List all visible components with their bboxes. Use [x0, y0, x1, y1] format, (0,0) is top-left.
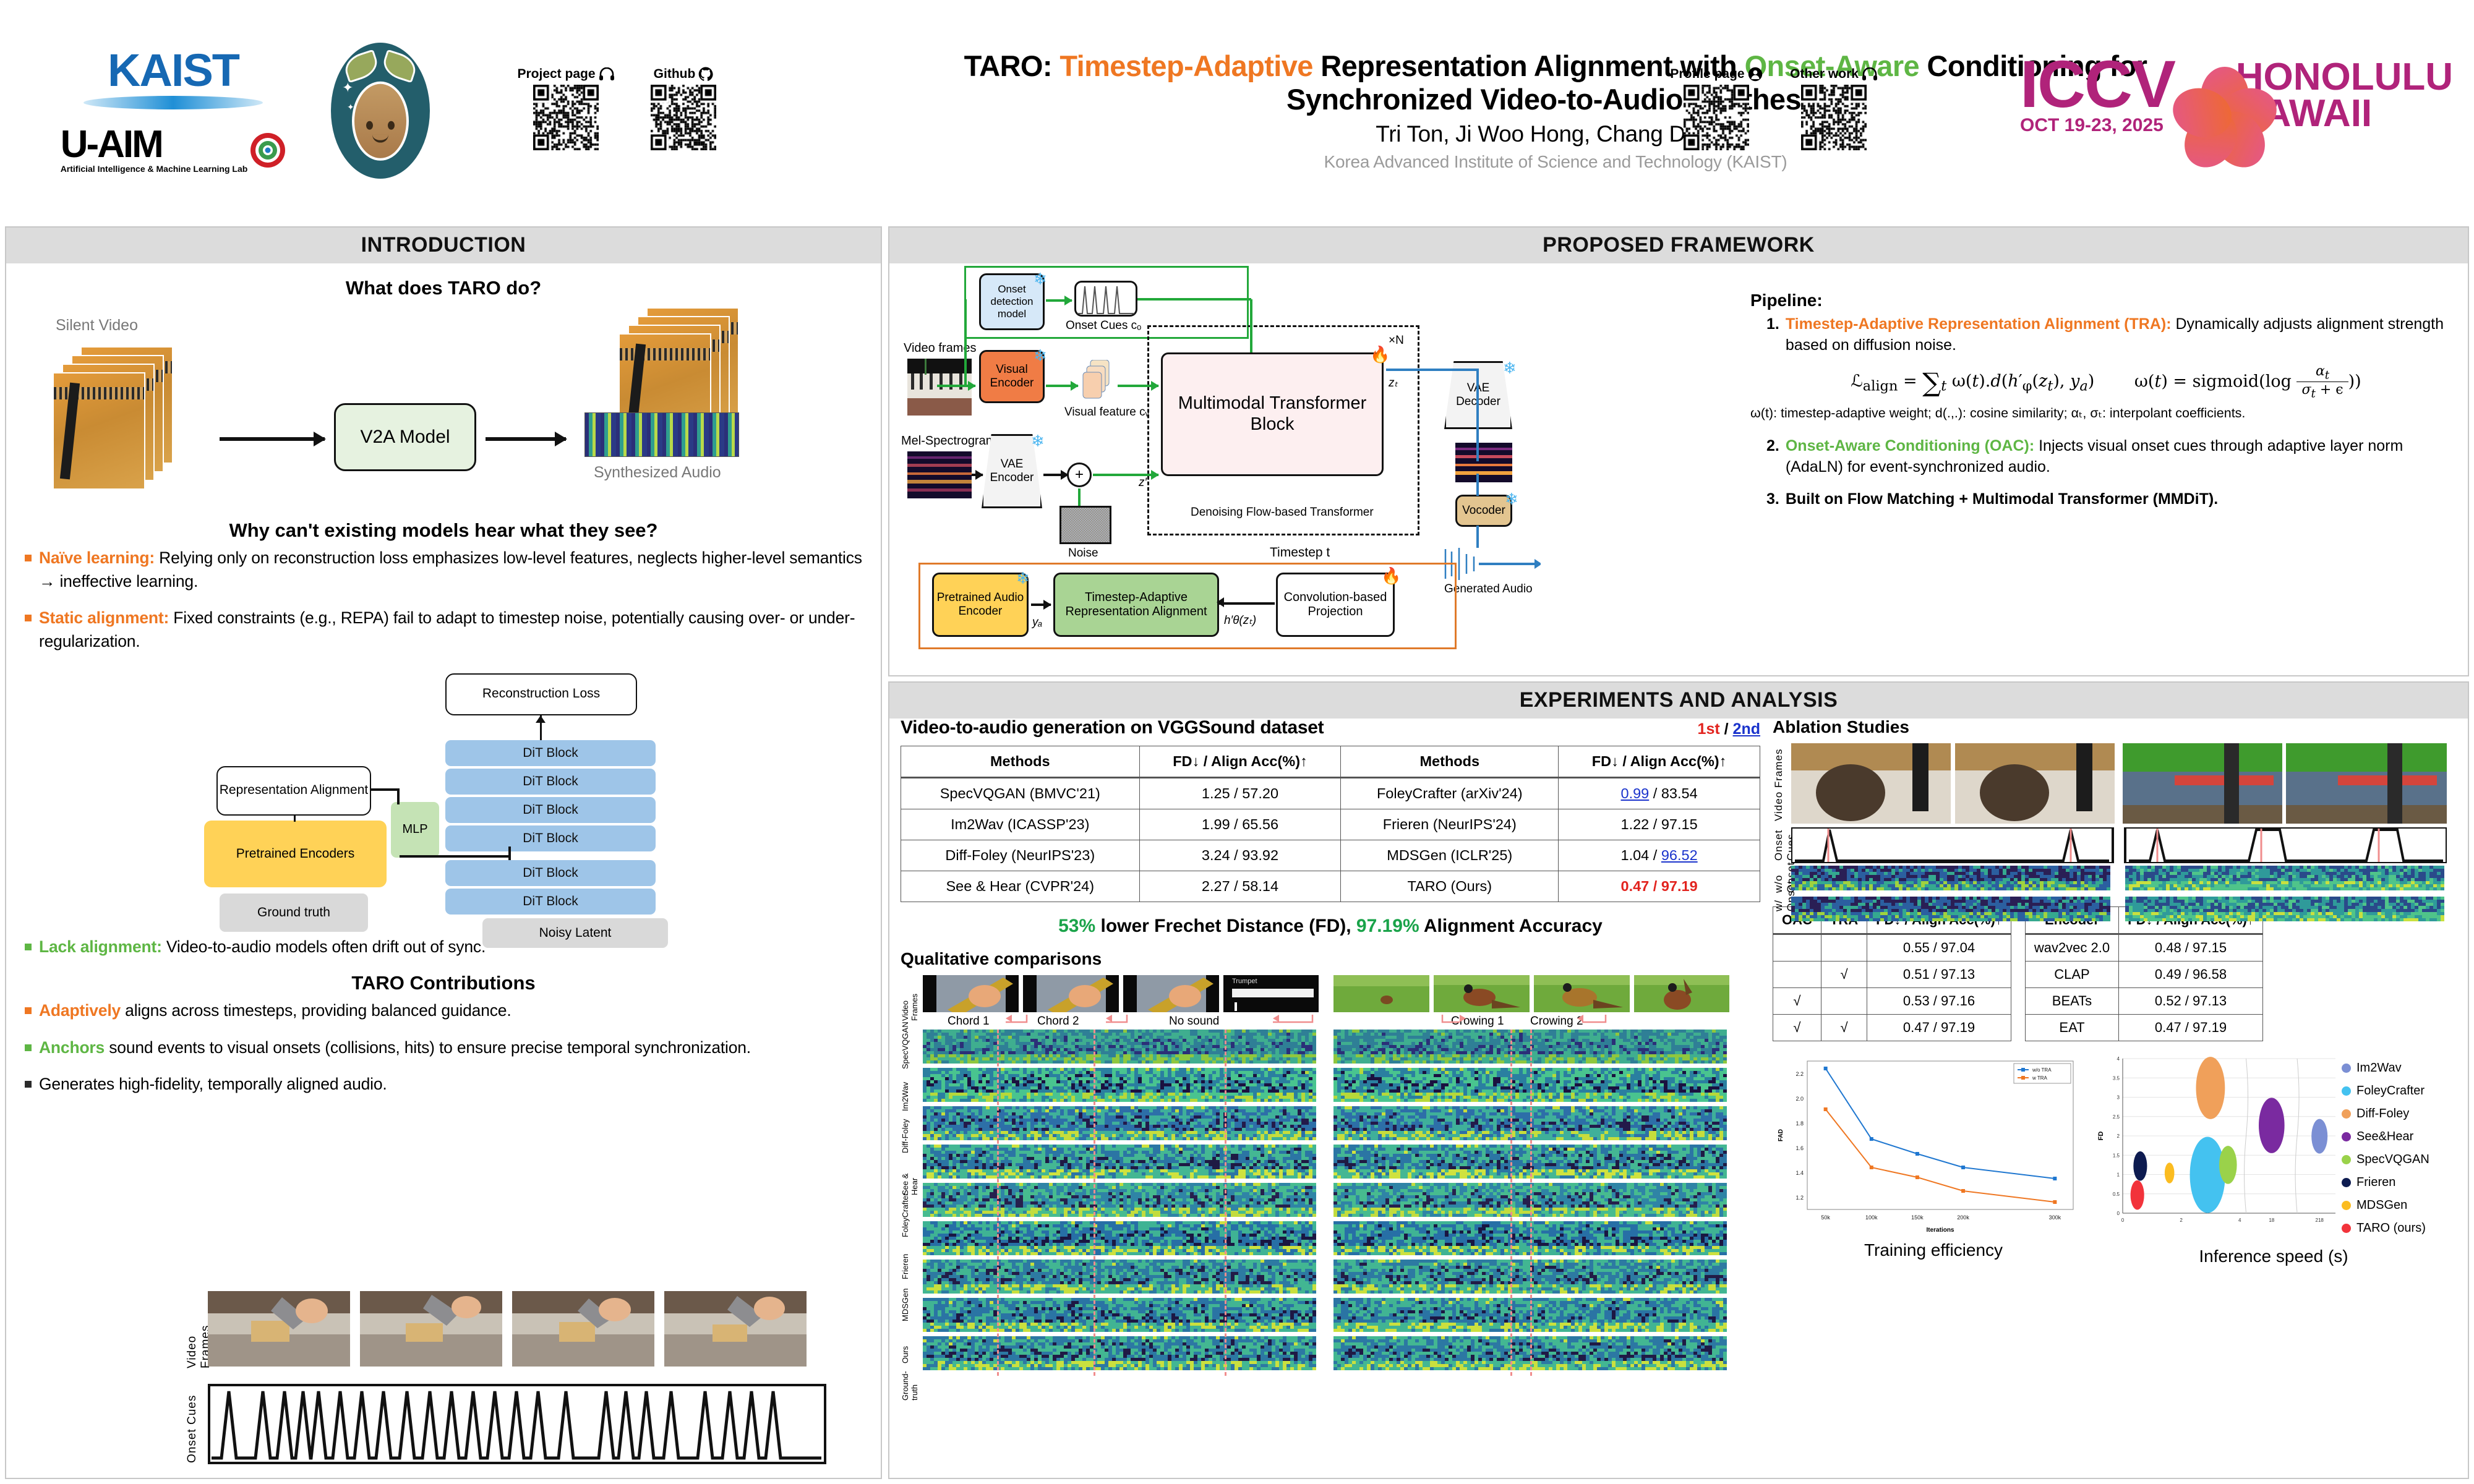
conv-projection-box: Convolution-based Projection [1276, 573, 1395, 637]
qr-code-image[interactable] [1801, 85, 1867, 150]
qualitative-row-label: Diff-Foley [901, 1115, 910, 1153]
onset-cues-plot-box [1074, 281, 1137, 317]
legend-item: MDSGen [2342, 1198, 2429, 1213]
spectrogram-row [923, 1336, 1319, 1372]
fire-icon: 🔥 [1370, 345, 1390, 364]
main-table-title: Video-to-audio generation on VGGSound da… [901, 717, 1324, 738]
table-row: √0.53 / 97.16 [1773, 988, 2011, 1015]
table-header-row: Methods FD↓ / Align Acc(%)↑ Methods FD↓ … [901, 746, 1760, 778]
onset-marker-line [1510, 1030, 1512, 1376]
contribution-adaptively: Adaptively aligns across timesteps, prov… [25, 999, 866, 1023]
qualitative-row-label: Ours [901, 1325, 910, 1363]
col-metrics-2: FD↓ / Align Acc(%)↑ [1559, 746, 1760, 778]
arrow-audio-encoder-to-tra [1031, 603, 1051, 606]
wo-onset-spectrograms [1791, 866, 2447, 896]
legend-label: FoleyCrafter [2356, 1084, 2425, 1098]
snowflake-icon: ❄ [1016, 569, 1030, 588]
legend-color-dot [2342, 1224, 2351, 1233]
table-row: wav2vec 2.00.48 / 97.15 [2025, 934, 2262, 962]
onset-cues-plot [208, 1384, 826, 1464]
qualitative-column-trumpet: Trumpet Chord 1 Chord 2 No sound [923, 975, 1319, 1030]
arrow-mel-to-vae [972, 474, 983, 476]
contribution-generates: Generates high-fidelity, temporally alig… [25, 1073, 866, 1096]
github-icon [698, 67, 713, 82]
ablation-row-label: Video Frames [1773, 743, 1785, 821]
ablation-title: Ablation Studies [1773, 717, 2459, 737]
ablation-figure: Video FramesOnset Cuesw/o Onsetw/ Onset [1773, 743, 2459, 898]
pretrained-encoders-box: Pretrained Encoders [204, 821, 387, 887]
arrow-add-to-mmt [1093, 474, 1158, 476]
video-frames-thumb [907, 359, 972, 416]
video-frame-thumb [664, 1291, 807, 1367]
qualitative-row-label: Frieren [901, 1241, 910, 1279]
headphones-icon [1862, 67, 1878, 81]
legend-label: SpecVQGAN [2356, 1153, 2429, 1167]
z-prime-label: z′ [1139, 476, 1147, 490]
qr-github[interactable]: Github [637, 67, 730, 150]
trumpet-video-frames: Trumpet [923, 975, 1319, 1013]
pipeline-item-tra: 1. Timestep-Adaptive Representation Alig… [1766, 314, 2462, 356]
inference-speed-chart: 00.511.522.533.5402418218FD Im2WavFoleyC… [2094, 1052, 2453, 1266]
intro-bullet-naive: Naïve learning: Relying only on reconstr… [25, 547, 866, 593]
noise-label: Noise [1068, 547, 1098, 560]
legend-item: TARO (ours) [2342, 1221, 2429, 1235]
qr-group-right: Profile page Other work [1670, 31, 1880, 150]
training-efficiency-caption: Training efficiency [1773, 1240, 2094, 1260]
legend-color-dot [2342, 1155, 2351, 1164]
align-loss-equation: ℒalign = ∑t ω(t).d(h′φ(zt), ya) ω(t) = s… [1750, 364, 2462, 401]
qr-code-image[interactable] [651, 85, 716, 150]
trumpet-caption: Trumpet [1232, 978, 1257, 985]
bullet-marker [25, 1081, 32, 1088]
timestep-label: Timestep t [1270, 545, 1330, 560]
dit-block: DiT Block [445, 825, 656, 851]
table-row: 0.55 / 97.04 [1773, 934, 2011, 962]
qualitative-row-label: Ground-truth [901, 1362, 919, 1401]
table-row: Im2Wav (ICASSP'23) 1.99 / 65.56 Frieren … [901, 809, 1760, 840]
spectrogram-row [923, 1183, 1319, 1219]
vocoder-box: Vocoder [1455, 495, 1512, 527]
generated-audio-label: Generated Audio [1444, 582, 1533, 596]
spectrogram-row [923, 1298, 1319, 1334]
qr-profile-page[interactable]: Profile page [1670, 67, 1763, 150]
kaist-swoosh-icon [83, 96, 263, 109]
noise-thumb [1059, 506, 1111, 544]
legend-color-dot [2342, 1201, 2351, 1210]
representation-alignment-box: Representation Alignment [216, 766, 371, 816]
qr-other-work[interactable]: Other work [1787, 67, 1880, 150]
framework-diagram: Onset detection model ❄ Onset Cues cₒ Vi… [900, 266, 1753, 668]
spectrogram-row [923, 1106, 1319, 1142]
section-title-introduction: INTRODUCTION [6, 228, 881, 263]
snowflake-icon: ❄ [1034, 346, 1047, 365]
iccv-logo: ICCV OCT 19-23, 2025 HONOLULU HAWAII [2020, 19, 2453, 173]
onset-cues-figure: Video Frames Onset Cues [179, 1291, 835, 1470]
poster-header: KAIST U-AIM Artificial Intelligence & Ma… [0, 0, 2474, 221]
analysis-charts: 1.21.41.61.82.02.250k100k150k200k300kIte… [1773, 1052, 2459, 1266]
equation-note: ω(t): timestep-adaptive weight; d(.,.): … [1750, 405, 2462, 422]
pipeline-text: Pipeline: 1. Timestep-Adaptive Represent… [1750, 291, 2462, 514]
right-annotation-row: Crowing 1 Crowing 2 [1333, 1013, 1729, 1030]
silent-video-label: Silent Video [56, 317, 138, 335]
legend-label: MDSGen [2356, 1198, 2407, 1213]
snowflake-icon: ❄ [1505, 490, 1518, 509]
qualitative-row-label: See & Hear [901, 1157, 919, 1195]
bullet-marker [25, 555, 32, 561]
legend-color-dot [2342, 1132, 2351, 1141]
table-row: BEATs0.52 / 97.13 [2025, 988, 2262, 1015]
qualitative-title: Qualitative comparisons [901, 949, 1760, 969]
inference-legend: Im2WavFoleyCrafterDiff-FoleySee&HearSpec… [2342, 1052, 2429, 1244]
taro-mascot-icon: ✦ ✦ [322, 30, 439, 191]
synthesized-spectrogram [584, 412, 739, 457]
onset-marker-line [1530, 1030, 1532, 1376]
table-row: See & Hear (CVPR'24) 2.27 / 58.14 TARO (… [901, 871, 1760, 902]
arrow-feature-to-mmt [1118, 385, 1158, 387]
denoising-label: Denoising Flow-based Transformer [1191, 506, 1374, 519]
target-icon [250, 132, 286, 168]
arrow-onset-to-cues [1046, 299, 1072, 302]
section-title-framework: PROPOSED FRAMEWORK [889, 228, 2468, 263]
snowflake-icon: ❄ [1034, 270, 1047, 289]
legend-color-dot [2342, 1178, 2351, 1187]
fire-icon: 🔥 [1381, 566, 1401, 586]
bullet-marker [25, 1044, 32, 1051]
spectrogram-row [923, 1260, 1319, 1295]
vggsound-results-table: Methods FD↓ / Align Acc(%)↑ Methods FD↓ … [901, 746, 1760, 902]
qr-label-text: Github [654, 67, 696, 82]
legend-color-dot [2342, 1109, 2351, 1119]
experiments-left-column: Video-to-audio generation on VGGSound da… [901, 717, 1760, 1396]
qualitative-row-label: SpecVQGAN [901, 1031, 910, 1069]
intro-bullet-lack-alignment: Lack alignment: Video-to-audio models of… [25, 936, 866, 959]
multimodal-transformer-block: Multimodal Transformer Block [1161, 352, 1384, 476]
zt-label: zₜ [1389, 376, 1398, 390]
generated-waveform-icon [1442, 545, 1541, 582]
kaist-logo: KAIST [83, 48, 263, 109]
repa-diagram: Reconstruction Loss DiT Block DiT Block … [6, 667, 881, 927]
onset-cues-label: Onset Cues cₒ [1066, 319, 1141, 333]
pheasant-video-frames [1333, 975, 1729, 1013]
w-onset-spectrograms [1791, 897, 2447, 927]
mel-spectrogram-thumb [907, 451, 972, 498]
onset-marker-line [1094, 1030, 1095, 1376]
pipeline-heading: Pipeline: [1750, 291, 2462, 310]
video-frame-thumb [360, 1291, 502, 1367]
experiments-right-column: Ablation Studies Video FramesOnset Cuesw… [1773, 717, 2459, 1266]
arrow-visual-encoder-to-feature [1046, 385, 1078, 387]
ya-label: yₐ [1032, 616, 1042, 629]
headphones-icon [599, 67, 615, 81]
onset-cues-row-label: Onset Cues [186, 1384, 199, 1463]
qr-project-page[interactable]: Project page [520, 67, 612, 150]
intro-question-1: What does TARO do? [6, 277, 881, 299]
add-operator-icon: + [1067, 463, 1092, 487]
uaim-logo: U-AIM Artificial Intelligence & Machine … [61, 127, 286, 174]
bullet-marker [25, 1007, 32, 1014]
qualitative-figure: Video FramesSpecVQGANIm2WavDiff-FoleySee… [901, 975, 1760, 1396]
ablation-video-frames [1791, 743, 2447, 824]
qualitative-column-pheasant: Crowing 1 Crowing 2 [1333, 975, 1729, 1030]
decoded-spectrogram-thumb [1455, 443, 1512, 482]
mel-spectrogram-label: Mel-Spectrogram [901, 434, 996, 448]
qualitative-row-label: Video Frames [901, 976, 919, 1021]
arrow-to-audio [486, 437, 566, 441]
contributions-title: TARO Contributions [6, 972, 881, 994]
v2a-model-box: V2A Model [334, 403, 476, 471]
ground-truth-box: Ground truth [220, 893, 368, 932]
onset-marker-line [1225, 1030, 1226, 1376]
contribution-anchors: Anchors sound events to visual onsets (c… [25, 1036, 866, 1060]
table-row: Diff-Foley (NeurIPS'23) 3.24 / 93.92 MDS… [901, 840, 1760, 871]
legend-item: Im2Wav [2342, 1061, 2429, 1075]
intro-question-2: Why can't existing models hear what they… [6, 519, 881, 542]
legend-label: Im2Wav [2356, 1061, 2402, 1075]
spectrogram-row [923, 1030, 1319, 1065]
h-prime-label: h′θ(zₜ) [1224, 613, 1256, 628]
qr-code-image[interactable] [533, 85, 599, 150]
training-efficiency-chart: 1.21.41.61.82.02.250k100k150k200k300kIte… [1773, 1052, 2094, 1266]
legend-color-dot [2342, 1064, 2351, 1073]
legend-color-dot [2342, 1086, 2351, 1096]
pipeline-item-mmdit: 3. Built on Flow Matching + Multimodal T… [1766, 489, 2462, 510]
inference-speed-caption: Inference speed (s) [2094, 1247, 2453, 1266]
noisy-latent-box: Noisy Latent [482, 918, 668, 948]
legend-label: Frieren [2356, 1175, 2395, 1190]
legend-item: See&Hear [2342, 1130, 2429, 1144]
legend-item: SpecVQGAN [2342, 1153, 2429, 1167]
arrow-vae-to-add [1043, 474, 1068, 476]
qr-label-text: Profile page [1670, 67, 1744, 82]
rank-legend: 1st / 2nd [1698, 720, 1760, 738]
qualitative-row-label: MDSGen [901, 1283, 910, 1321]
table-row: EAT0.47 / 97.19 [2025, 1015, 2262, 1041]
col-methods-2: Methods [1341, 746, 1559, 778]
dit-block: DiT Block [445, 889, 656, 915]
legend-item: Diff-Foley [2342, 1107, 2429, 1121]
onset-marker-line [997, 1030, 999, 1376]
qr-label-text: Project page [517, 67, 595, 82]
legend-label: Diff-Foley [2356, 1107, 2409, 1121]
section-title-experiments: EXPERIMENTS AND ANALYSIS [889, 683, 2468, 719]
table-row: CLAP0.49 / 96.58 [2025, 962, 2262, 988]
col-metrics-1: FD↓ / Align Acc(%)↑ [1139, 746, 1341, 778]
qr-code-image[interactable] [1684, 85, 1749, 150]
qr-group-left: Project page Github [520, 31, 730, 150]
synthesized-audio-label: Synthesized Audio [594, 464, 721, 482]
qualitative-row-label: FoleyCrafter [901, 1199, 910, 1237]
arrow-to-model [220, 437, 325, 441]
intro-bullet-static: Static alignment: Fixed constraints (e.g… [25, 607, 866, 653]
qr-label-text: Other work [1790, 67, 1859, 82]
visual-feature-label: Visual feature cᵥ [1064, 406, 1149, 419]
video-frame-thumb [512, 1291, 654, 1367]
tra-box: Timestep-Adaptive Representation Alignme… [1053, 573, 1219, 637]
table-row: SpecVQGAN (BMVC'21) 1.25 / 57.20 FoleyCr… [901, 778, 1760, 809]
hibiscus-icon [2178, 42, 2232, 150]
institution-logos: KAIST U-AIM Artificial Intelligence & Ma… [0, 9, 322, 213]
v2a-flow-diagram: Silent Video V2A Model Synthesized Audio [6, 304, 881, 508]
xN-label: ×N [1389, 334, 1404, 348]
spectrogram-row [923, 1221, 1319, 1257]
snowflake-icon: ❄ [1503, 359, 1517, 378]
left-annotation-row: Chord 1 Chord 2 No sound [923, 1013, 1319, 1030]
headline-result: 53% lower Frechet Distance (FD), 97.19% … [901, 916, 1760, 937]
reconstruction-loss-box: Reconstruction Loss [445, 673, 637, 715]
table-row: √0.51 / 97.13 [1773, 962, 2011, 988]
legend-label: TARO (ours) [2356, 1221, 2426, 1235]
dit-block: DiT Block [445, 797, 656, 823]
legend-item: Frieren [2342, 1175, 2429, 1190]
snowflake-icon: ❄ [1031, 432, 1045, 451]
legend-label: See&Hear [2356, 1130, 2413, 1144]
dit-block: DiT Block [445, 740, 656, 766]
video-frame-thumb [208, 1291, 350, 1367]
dit-block: DiT Block [445, 860, 656, 886]
arrow-mmt-to-decoder [1386, 369, 1478, 371]
col-methods-1: Methods [901, 746, 1140, 778]
spectrogram-row [923, 1145, 1319, 1180]
bullet-marker [25, 615, 32, 621]
table-row: √√0.47 / 97.19 [1773, 1015, 2011, 1041]
arrow-video-to-visual-encoder [937, 385, 975, 387]
mlp-box: MLP [391, 802, 439, 858]
dit-block: DiT Block [445, 769, 656, 795]
legend-item: FoleyCrafter [2342, 1084, 2429, 1098]
person-icon [1748, 67, 1763, 82]
bullet-marker [25, 944, 32, 950]
pipeline-item-oac: 2. Onset-Aware Conditioning (OAC): Injec… [1766, 436, 2462, 478]
visual-feature-tokens [1081, 360, 1116, 403]
poster-root: KAIST U-AIM Artificial Intelligence & Ma… [0, 0, 2474, 1484]
ablation-onset-cues [1791, 827, 2447, 863]
spectrogram-row [923, 1068, 1319, 1104]
qualitative-row-label: Im2Wav [901, 1073, 910, 1111]
pretrained-audio-encoder-box: Pretrained Audio Encoder [932, 573, 1029, 637]
